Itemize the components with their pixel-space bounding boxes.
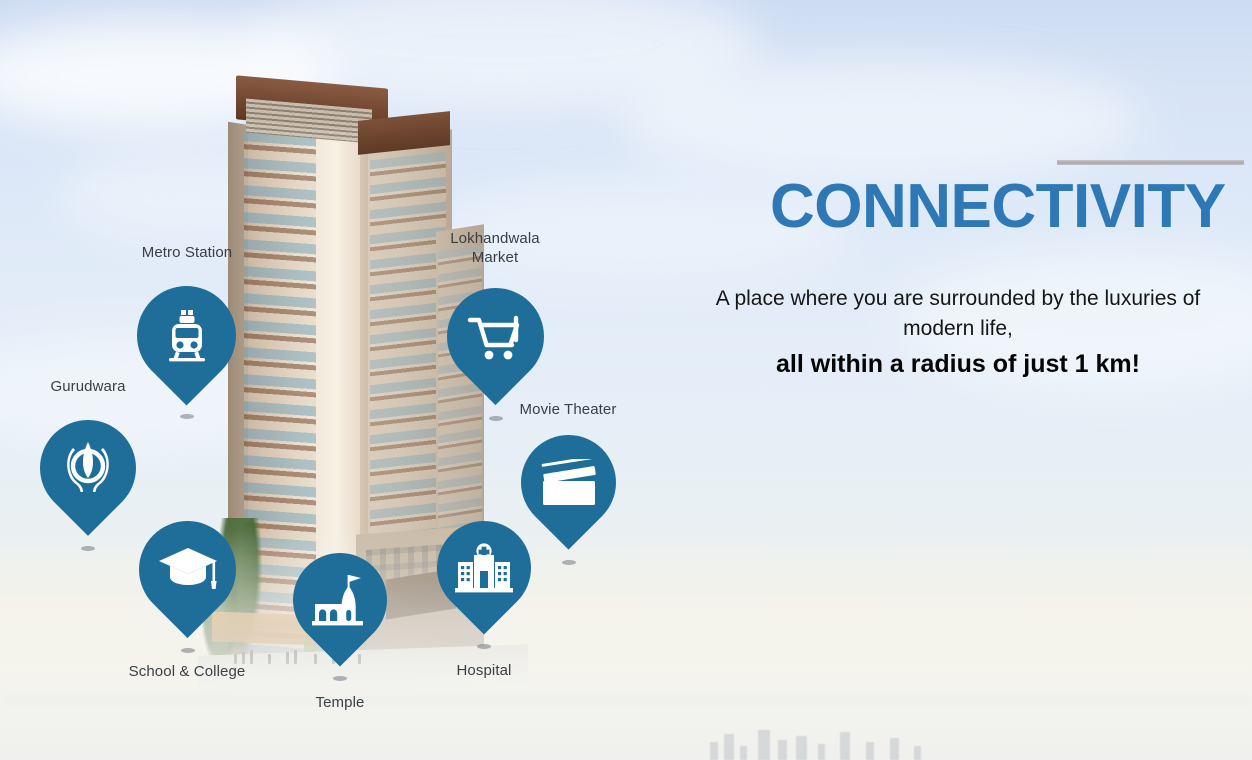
shopping-cart-icon xyxy=(447,288,544,385)
map-pin-label: Hospital xyxy=(384,662,584,681)
khanda-icon xyxy=(40,420,136,516)
subtitle: A place where you are surrounded by the … xyxy=(660,284,1252,344)
map-pin-temple[interactable]: Temple xyxy=(293,553,387,647)
graduation-cap-icon xyxy=(139,521,236,618)
map-pin-label: School & College xyxy=(87,663,287,682)
clapperboard-icon xyxy=(521,435,616,530)
subtitle-line-1: A place where you are surrounded by the … xyxy=(716,287,1200,310)
temple-icon xyxy=(293,553,387,647)
highlight-text: all within a radius of just 1 km! xyxy=(660,348,1252,381)
hospital-icon xyxy=(437,521,531,615)
map-pin-label: Metro Station xyxy=(87,244,287,263)
map-pin-hospital[interactable]: Hospital xyxy=(437,521,531,615)
subtitle-line-2: modern life, xyxy=(903,317,1013,340)
map-pin-lokhandwala-market[interactable]: Lokhandwala Market xyxy=(447,288,544,385)
train-icon xyxy=(137,286,236,385)
map-pin-label: Temple xyxy=(240,694,440,713)
map-pin-gurudwara[interactable]: Gurudwara xyxy=(40,420,136,516)
connectivity-slide: Metro Station Gurudwara xyxy=(0,0,1252,760)
distant-skyline xyxy=(700,720,960,760)
map-pin-school-college[interactable]: School & College xyxy=(139,521,236,618)
map-pin-label: Gurudwara xyxy=(0,378,188,397)
map-pin-label: Lokhandwala Market xyxy=(395,230,595,267)
map-pin-label: Movie Theater xyxy=(468,401,668,420)
page-title: CONNECTIVITY xyxy=(770,176,1252,238)
map-pin-metro-station[interactable]: Metro Station xyxy=(137,286,236,385)
title-rule xyxy=(1057,160,1244,165)
map-pin-movie-theater[interactable]: Movie Theater xyxy=(521,435,616,530)
